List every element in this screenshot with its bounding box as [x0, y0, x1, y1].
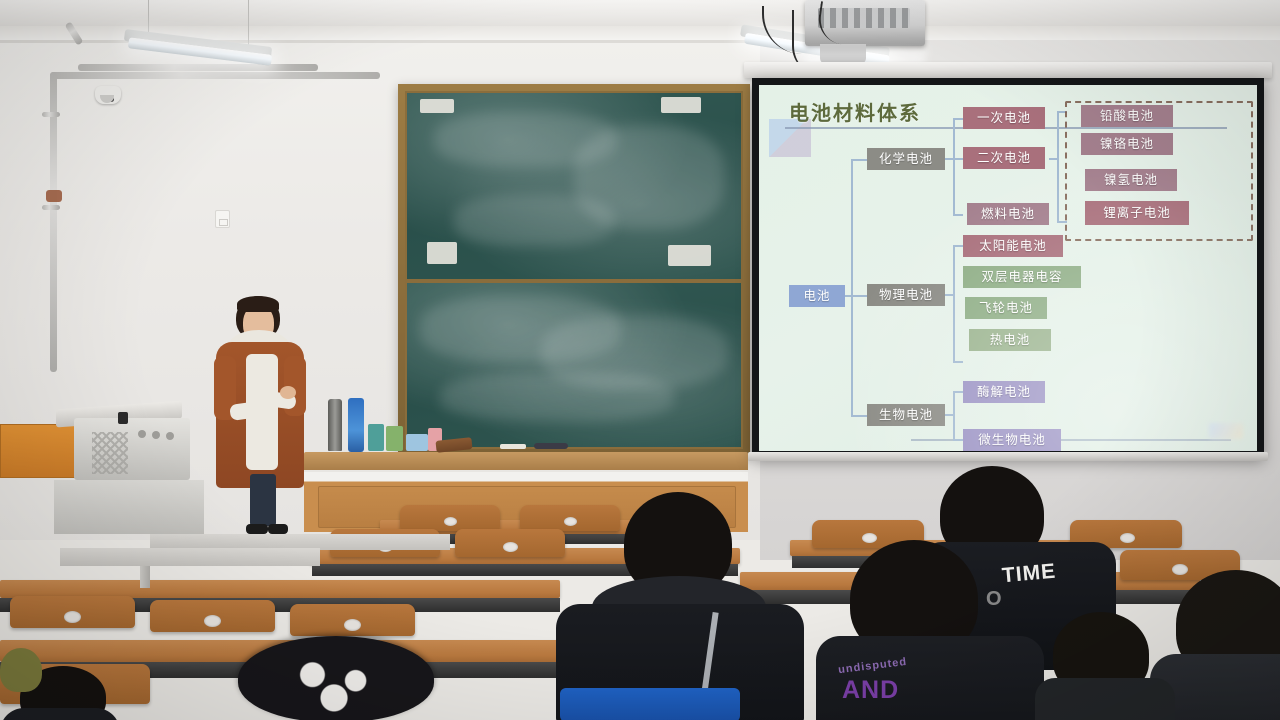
teacher-trousers [250, 474, 276, 526]
podium-cable-hole [166, 432, 174, 440]
teacher-shoe [268, 524, 288, 534]
floor-riser [60, 548, 320, 566]
thermos-flask [328, 399, 342, 451]
chalk-smear [454, 195, 614, 247]
chalk-stick[interactable] [500, 444, 526, 449]
connector-chem-spine [953, 118, 955, 216]
node-lead-acid-battery: 铅酸电池 [1081, 105, 1173, 127]
node-secondary-battery: 二次电池 [963, 147, 1045, 169]
student-left-green [0, 648, 42, 698]
connector-root-spine [851, 159, 853, 417]
chair-handle-hole [204, 615, 221, 627]
connector-phys-arm-1 [953, 245, 963, 247]
connector-phys-spine [953, 245, 955, 361]
connector-bio-spine [953, 391, 955, 439]
chalk-box-green [386, 426, 403, 451]
security-camera [95, 86, 121, 104]
connector-bio-stub [945, 414, 953, 416]
wall-pipe-vertical [50, 72, 57, 372]
wall-pipe-long [78, 64, 318, 71]
node-flywheel-battery: 飞轮电池 [965, 297, 1047, 319]
wall-seam [0, 40, 760, 43]
connector-bio-arm-2 [953, 439, 963, 441]
node-solar-cell: 太阳能电池 [963, 235, 1063, 257]
chalk-ledge [304, 452, 748, 470]
chalk-residue [668, 245, 711, 265]
connector-phys-stub [945, 294, 953, 296]
node-lithium-ion-battery: 锂离子电池 [1085, 201, 1189, 225]
student-torso [1035, 678, 1175, 720]
teacher-shoe [246, 524, 268, 534]
chair-back[interactable] [290, 604, 415, 636]
pipe-bracket-b [42, 205, 60, 210]
chair-back[interactable] [150, 600, 275, 632]
connector-chem-arm-2 [953, 158, 963, 160]
blackboard-surface [405, 91, 743, 449]
ceiling-pipe-horizontal [50, 72, 380, 79]
student-fuzzy-hat [238, 636, 434, 720]
node-primary-battery: 一次电池 [963, 107, 1045, 129]
teacher-hand [280, 386, 296, 399]
podium-cable-hole [152, 431, 160, 439]
chair-back[interactable] [10, 596, 135, 628]
connector-to-bio [851, 415, 867, 417]
node-root: 电池 [789, 285, 845, 307]
presentation-slide: 电池材料体系 电池 化学电池 一次电池 二次电池 燃料电池 [759, 85, 1257, 451]
projection-screen-bottom-bar [748, 452, 1268, 461]
student-hoodie-text-and: AND [842, 676, 899, 705]
slide-corner-glint [1209, 423, 1243, 439]
student-head-green-hat [0, 648, 42, 692]
wall-outlet[interactable] [215, 210, 230, 228]
chalk-residue [420, 99, 453, 114]
ceiling-beam [0, 0, 1280, 27]
blackboard-panel-upper [405, 91, 743, 281]
node-thermal-battery: 热电池 [969, 329, 1051, 351]
classroom-scene: 电池材料体系 电池 化学电池 一次电池 二次电池 燃料电池 [0, 0, 1280, 720]
student-right-back [1035, 612, 1175, 720]
connector-to-physical [851, 295, 867, 297]
node-microbial-battery: 微生物电池 [963, 429, 1061, 451]
podium-base [54, 480, 204, 534]
projection-screen: 电池材料体系 电池 化学电池 一次电池 二次电池 燃料电池 [752, 78, 1264, 458]
connector-chem-stub [945, 158, 953, 160]
student-right-and: undisputed AND [816, 540, 1046, 720]
chair-handle-hole [1120, 533, 1135, 543]
student-hoodie-blue-band [560, 688, 740, 720]
connector-bio-arm-1 [953, 391, 963, 393]
node-physical-battery: 物理电池 [867, 284, 945, 306]
desk-leg [140, 566, 150, 588]
water-bottle-blue [348, 398, 364, 452]
node-nickel-chromium-battery: 镍铬电池 [1081, 133, 1173, 155]
chalk-residue [427, 242, 457, 264]
marker-dark[interactable] [534, 443, 568, 449]
teacher [196, 296, 316, 544]
student-center [546, 492, 806, 720]
connector-chem-arm-1 [953, 118, 963, 120]
node-nickel-hydrogen-battery: 镍氢电池 [1085, 169, 1177, 191]
podium-cable-hole [138, 430, 146, 438]
student-left-foreground [238, 636, 438, 720]
podium-speaker-grill [92, 432, 128, 474]
node-biological-battery: 生物电池 [867, 404, 945, 426]
camera-lens-left [102, 97, 107, 102]
chair-handle-hole [444, 517, 457, 526]
student-torso [0, 708, 120, 720]
blackboard [398, 84, 750, 456]
podium-monitor-edge [118, 412, 128, 424]
projection-screen-case [744, 62, 1272, 78]
connector-chem-arm-3 [953, 214, 963, 216]
chalk-smear [440, 373, 674, 422]
node-chemical-battery: 化学电池 [867, 148, 945, 170]
connector-sub-spine [1057, 111, 1059, 221]
chair-handle-hole [503, 542, 518, 552]
chalk-box-blue [406, 434, 428, 451]
blackboard-panel-lower [405, 281, 743, 449]
node-enzymatic-battery: 酶解电池 [963, 381, 1045, 403]
chair-handle-hole [64, 611, 81, 623]
slide-title: 电池材料体系 [789, 97, 921, 126]
chair-back[interactable] [400, 505, 500, 531]
teacher-hair-fringe [237, 296, 279, 312]
node-double-layer-capacitor: 双层电器电容 [963, 266, 1081, 288]
connector-to-chemical [851, 159, 867, 161]
node-fuel-cell: 燃料电池 [967, 203, 1049, 225]
connector-phys-arm-2 [953, 361, 963, 363]
chair-handle-hole [344, 619, 361, 631]
chalk-residue [661, 97, 701, 114]
pipe-valve [46, 190, 62, 202]
cup-teal [368, 424, 384, 451]
connector-sub-stub [1049, 158, 1057, 160]
pipe-bracket-a [42, 112, 60, 117]
camera-lens-right [109, 97, 114, 102]
